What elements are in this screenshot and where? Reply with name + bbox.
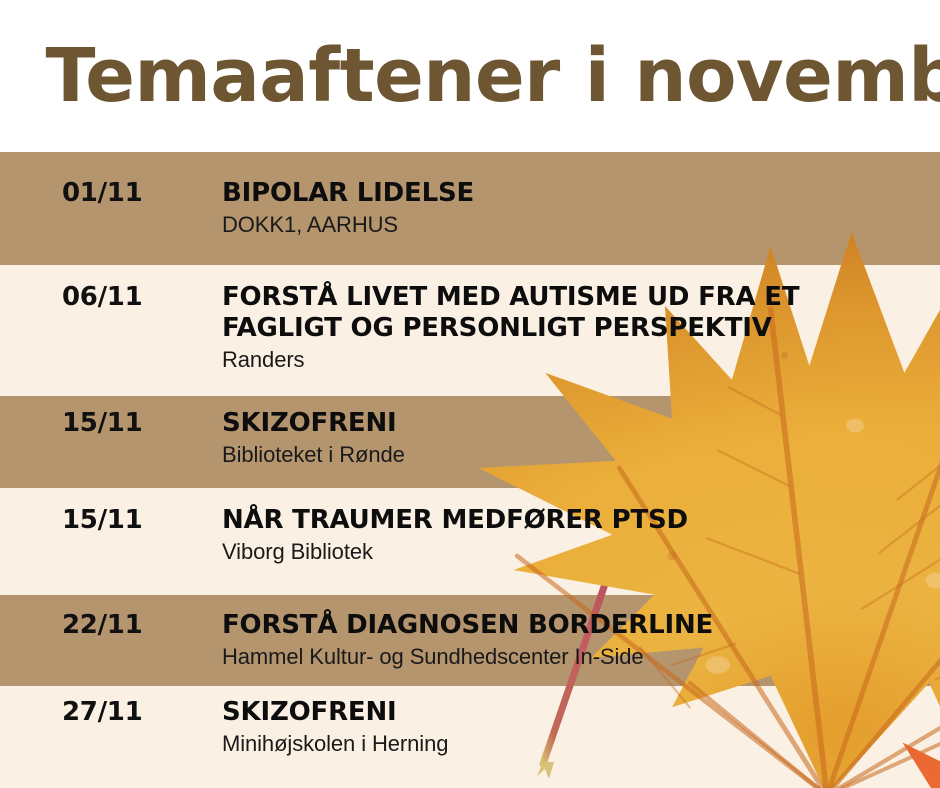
event-venue: Hammel Kultur- og Sundhedscenter In-Side [222, 643, 940, 671]
event-date: 06/11 [0, 282, 160, 312]
event-venue: Randers [222, 346, 940, 374]
event-venue: Biblioteket i Rønde [222, 441, 940, 469]
event-row[interactable]: 22/11 FORSTÅ DIAGNOSEN BORDERLINE Hammel… [0, 610, 940, 671]
event-row[interactable]: 27/11 SKIZOFRENI Minihøjskolen i Herning [0, 697, 940, 758]
event-row[interactable]: 15/11 NÅR TRAUMER MEDFØRER PTSD Viborg B… [0, 505, 940, 566]
event-title: SKIZOFRENI [222, 408, 940, 439]
event-title: SKIZOFRENI [222, 697, 940, 728]
event-venue: Minihøjskolen i Herning [222, 730, 940, 758]
event-venue: Viborg Bibliotek [222, 538, 940, 566]
poster-canvas: Temaaftener i november 01/11 BIPOLAR LID… [0, 0, 940, 788]
event-body: FORSTÅ LIVET MED AUTISME UD FRA ET FAGLI… [160, 282, 940, 374]
event-title: FORSTÅ DIAGNOSEN BORDERLINE [222, 610, 940, 641]
event-body: SKIZOFRENI Biblioteket i Rønde [160, 408, 940, 469]
event-venue: DOKK1, AARHUS [222, 211, 940, 239]
event-body: FORSTÅ DIAGNOSEN BORDERLINE Hammel Kultu… [160, 610, 940, 671]
event-date: 15/11 [0, 505, 160, 535]
title-banner: Temaaftener i november [0, 0, 940, 152]
event-date: 22/11 [0, 610, 160, 640]
event-date: 15/11 [0, 408, 160, 438]
event-body: NÅR TRAUMER MEDFØRER PTSD Viborg Bibliot… [160, 505, 940, 566]
event-title: NÅR TRAUMER MEDFØRER PTSD [222, 505, 940, 536]
event-title: FORSTÅ LIVET MED AUTISME UD FRA ET FAGLI… [222, 282, 940, 344]
event-row[interactable]: 06/11 FORSTÅ LIVET MED AUTISME UD FRA ET… [0, 282, 940, 374]
event-row[interactable]: 15/11 SKIZOFRENI Biblioteket i Rønde [0, 408, 940, 469]
event-row[interactable]: 01/11 BIPOLAR LIDELSE DOKK1, AARHUS [0, 178, 940, 239]
event-date: 27/11 [0, 697, 160, 727]
page-title: Temaaftener i november [0, 36, 940, 116]
event-title: BIPOLAR LIDELSE [222, 178, 940, 209]
event-body: SKIZOFRENI Minihøjskolen i Herning [160, 697, 940, 758]
event-date: 01/11 [0, 178, 160, 208]
event-body: BIPOLAR LIDELSE DOKK1, AARHUS [160, 178, 940, 239]
